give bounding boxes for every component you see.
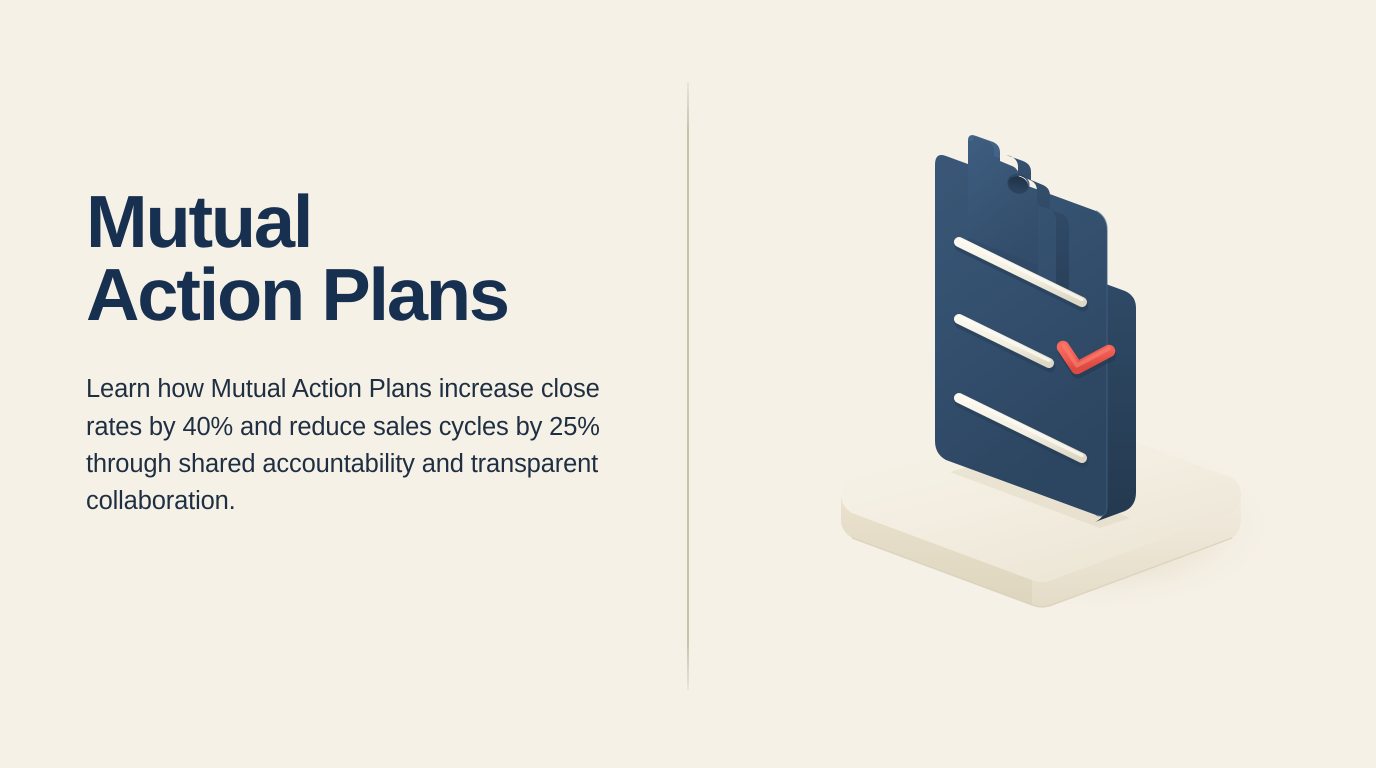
clipboard-illustration [800, 110, 1300, 670]
page-subtitle: Learn how Mutual Action Plans increase c… [86, 371, 621, 521]
text-column: Mutual Action Plans Learn how Mutual Act… [86, 186, 646, 521]
page-title: Mutual Action Plans [86, 186, 646, 331]
vertical-divider [687, 82, 689, 690]
slide-root: Mutual Action Plans Learn how Mutual Act… [0, 0, 1376, 768]
clipboard [935, 135, 1136, 522]
